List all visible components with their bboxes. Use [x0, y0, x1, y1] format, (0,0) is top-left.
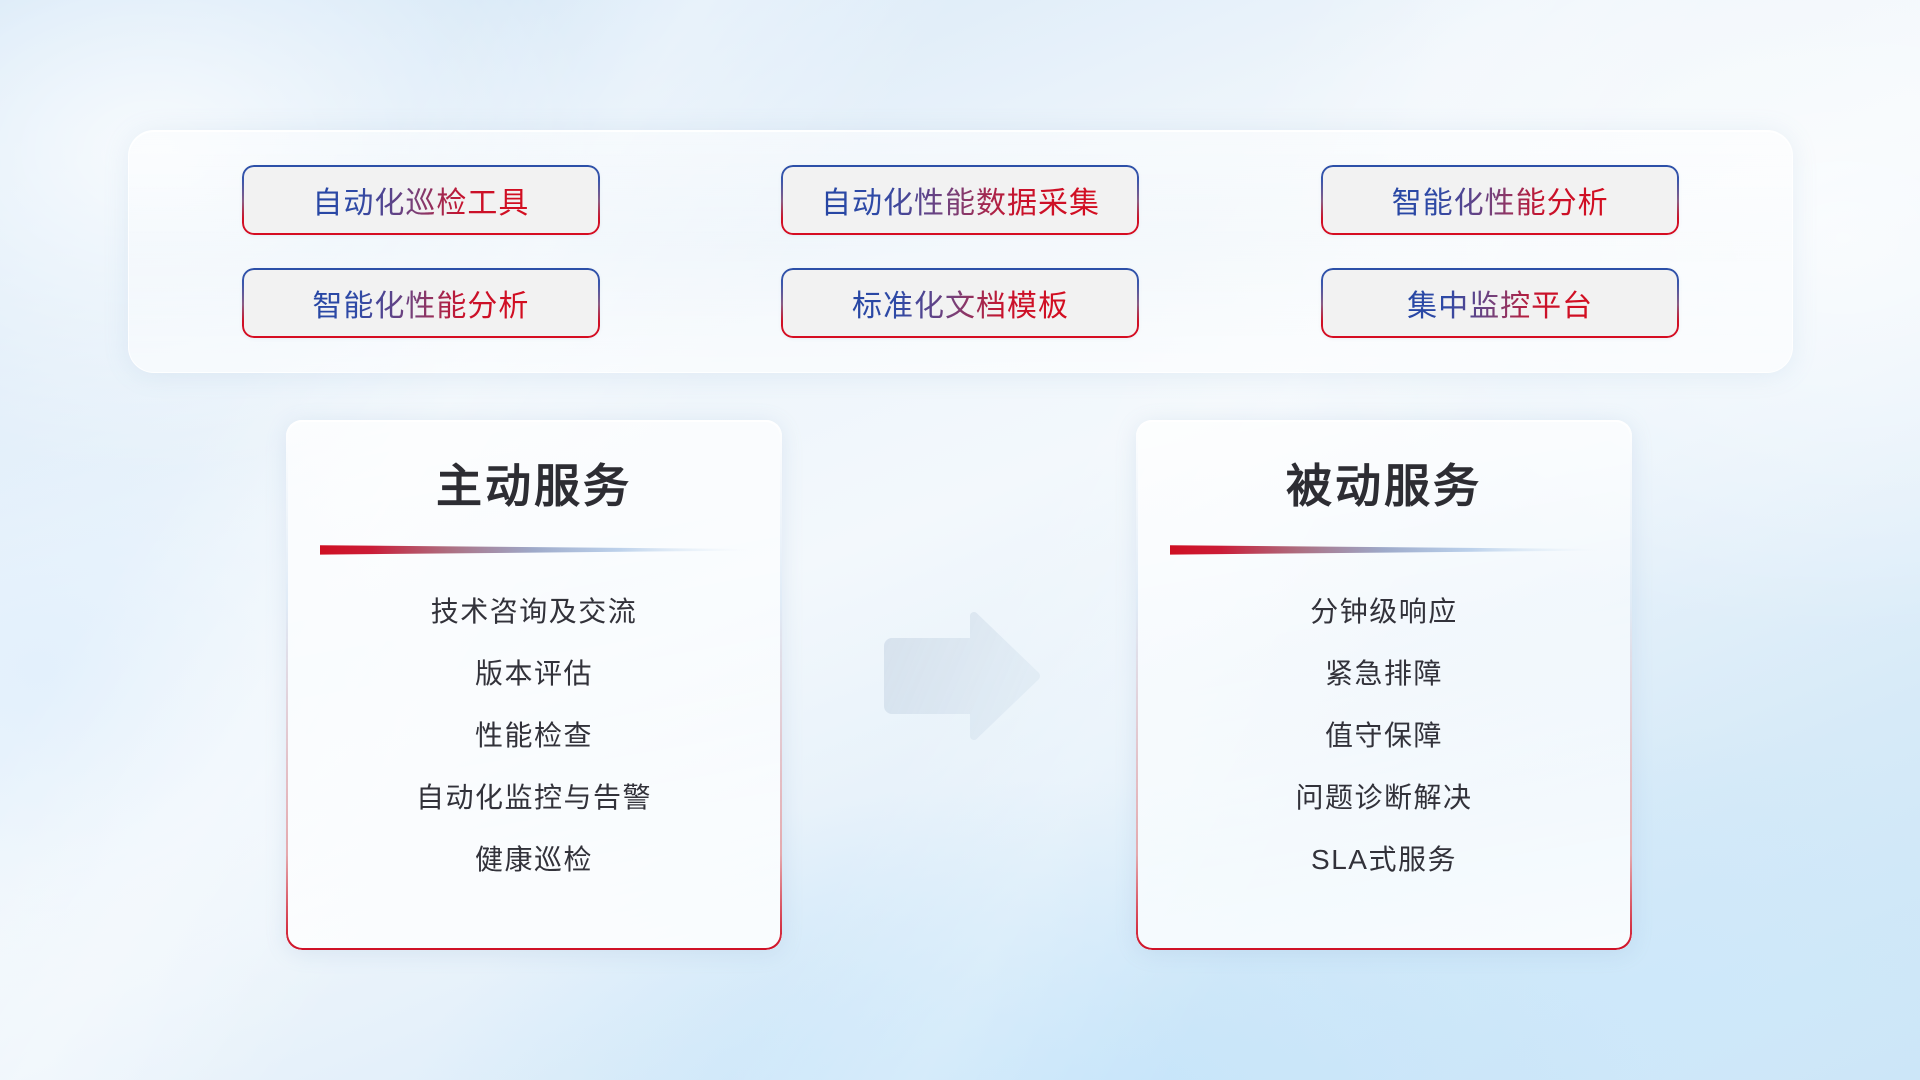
capability-pill-1[interactable]: 自动化巡检工具 — [242, 165, 600, 235]
capability-pill-label: 智能化性能分析 — [312, 281, 529, 325]
capability-pill-label: 自动化巡检工具 — [312, 178, 529, 222]
capability-pill-3[interactable]: 智能化性能分析 — [1321, 165, 1679, 235]
list-item: 健康巡检 — [286, 829, 782, 891]
list-item: 分钟级响应 — [1136, 581, 1632, 643]
list-item: 性能检查 — [286, 705, 782, 767]
list-item: 值守保障 — [1136, 705, 1632, 767]
service-card-reactive[interactable]: 被动服务 — [1136, 420, 1632, 950]
capability-pill-2[interactable]: 自动化性能数据采集 — [781, 165, 1139, 235]
card-title-reactive: 被动服务 — [1136, 450, 1632, 516]
list-item: 技术咨询及交流 — [286, 581, 782, 643]
arrow-right-icon — [878, 612, 1042, 740]
service-card-proactive[interactable]: 主动服务 — [286, 420, 782, 950]
capability-pill-6[interactable]: 集中监控平台 — [1321, 268, 1679, 338]
list-item: 紧急排障 — [1136, 643, 1632, 705]
capability-pill-label: 集中监控平台 — [1407, 281, 1593, 325]
title-underline-rule — [1170, 544, 1598, 555]
capability-pill-4[interactable]: 智能化性能分析 — [242, 268, 600, 338]
list-item: 自动化监控与告警 — [286, 767, 782, 829]
capability-pill-label: 标准化文档模板 — [852, 281, 1069, 325]
list-item: 版本评估 — [286, 643, 782, 705]
capability-pill-label: 自动化性能数据采集 — [821, 178, 1100, 222]
capability-panel: 自动化巡检工具 自动化性能数据采集 智能化性能分析 智能化性能分析 标准化文档模… — [128, 130, 1793, 373]
card-title-proactive: 主动服务 — [286, 450, 782, 516]
slide-canvas: 自动化巡检工具 自动化性能数据采集 智能化性能分析 智能化性能分析 标准化文档模… — [0, 0, 1920, 1080]
list-item: 问题诊断解决 — [1136, 767, 1632, 829]
service-list-reactive: 分钟级响应 紧急排障 值守保障 问题诊断解决 SLA式服务 — [1136, 581, 1632, 891]
list-item: SLA式服务 — [1136, 829, 1632, 891]
capability-pill-label: 智能化性能分析 — [1392, 178, 1609, 222]
title-underline-rule — [320, 544, 748, 555]
service-list-proactive: 技术咨询及交流 版本评估 性能检查 自动化监控与告警 健康巡检 — [286, 581, 782, 891]
capability-pill-5[interactable]: 标准化文档模板 — [781, 268, 1139, 338]
